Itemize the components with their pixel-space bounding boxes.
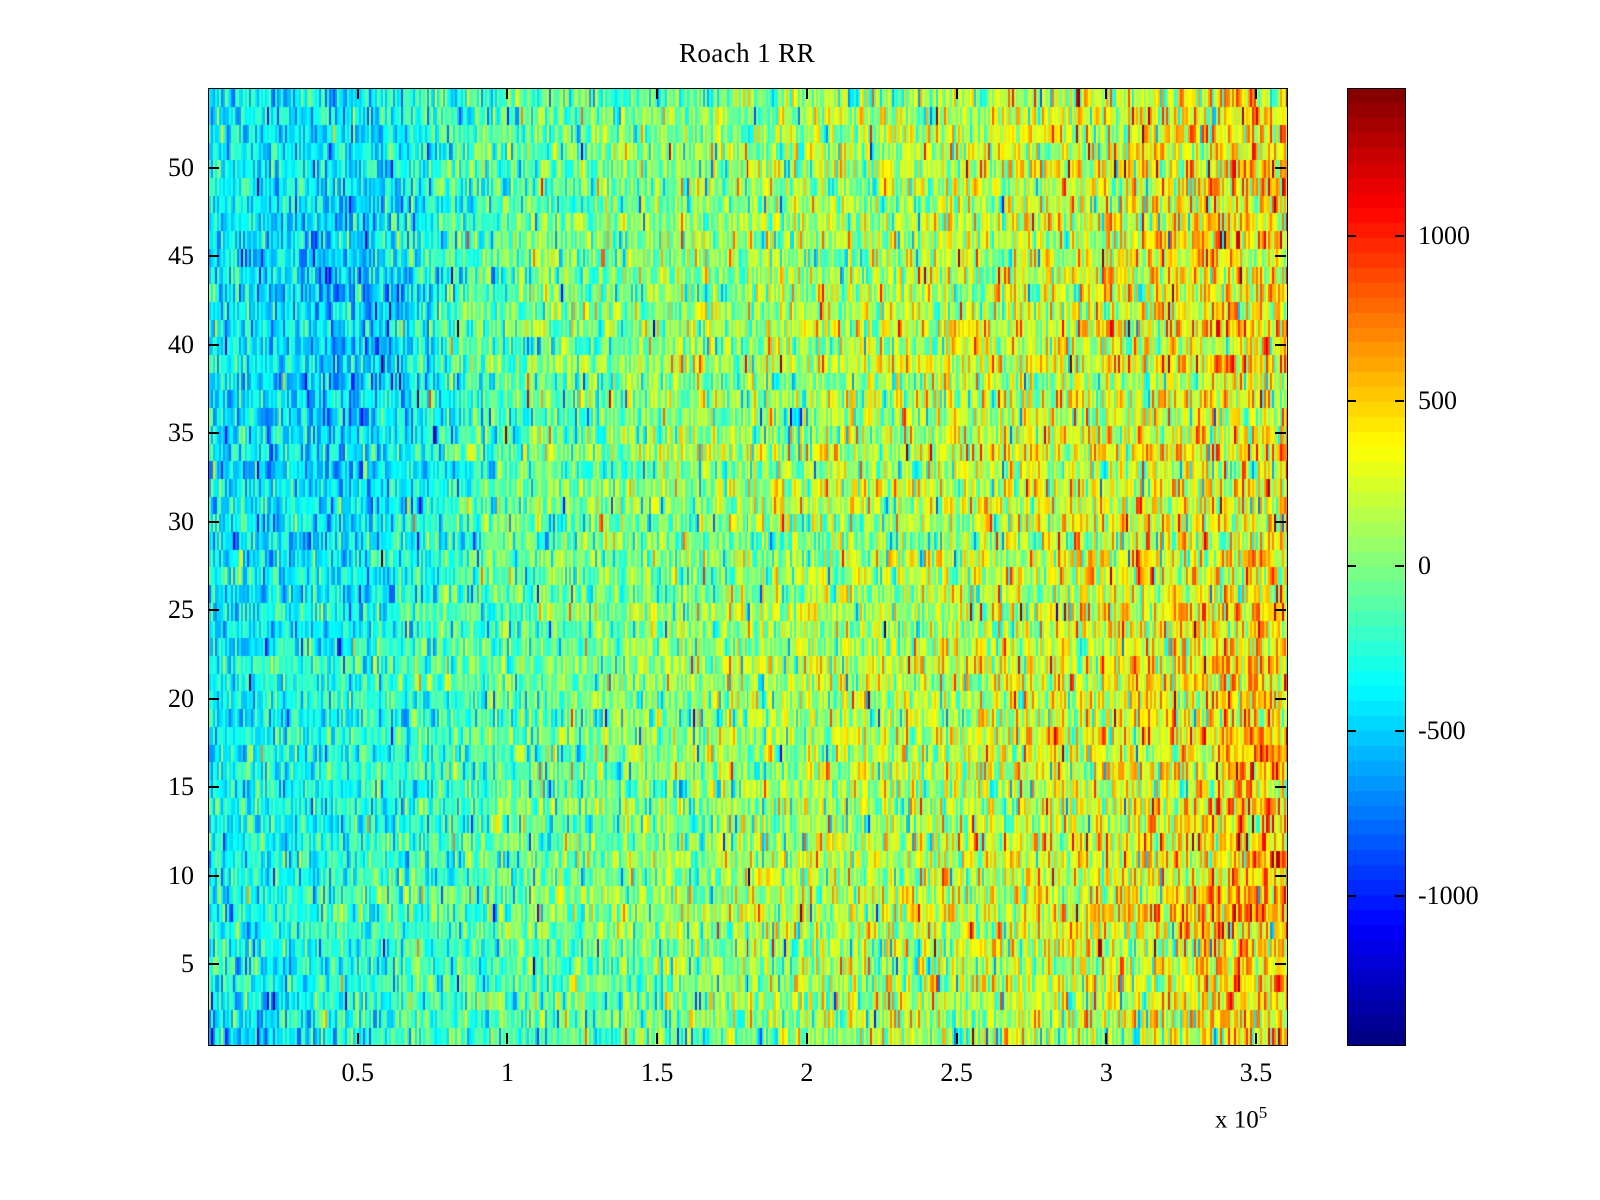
x-axis-exponent-base: x 10 bbox=[1215, 1106, 1259, 1133]
y-tick-mark bbox=[1275, 344, 1286, 346]
colorbar-tick-mark bbox=[1395, 895, 1404, 897]
x-tick-mark bbox=[1255, 88, 1257, 99]
colorbar-tick-mark bbox=[1395, 730, 1404, 732]
y-tick-label: 35 bbox=[116, 418, 194, 448]
y-tick-mark bbox=[1275, 786, 1286, 788]
y-tick-label: 25 bbox=[116, 595, 194, 625]
y-tick-mark bbox=[208, 963, 219, 965]
y-tick-mark bbox=[1275, 875, 1286, 877]
colorbar-tick-label: -500 bbox=[1418, 716, 1466, 746]
y-tick-mark bbox=[1275, 432, 1286, 434]
x-tick-label: 3.5 bbox=[1240, 1058, 1273, 1088]
colorbar-tick-label: -1000 bbox=[1418, 881, 1479, 911]
y-tick-mark bbox=[208, 698, 219, 700]
x-tick-label: 2.5 bbox=[940, 1058, 973, 1088]
x-tick-mark bbox=[956, 1033, 958, 1044]
y-tick-mark bbox=[208, 255, 219, 257]
y-tick-mark bbox=[1275, 167, 1286, 169]
y-tick-label: 5 bbox=[116, 949, 194, 979]
x-tick-mark bbox=[656, 1033, 658, 1044]
x-tick-mark bbox=[506, 88, 508, 99]
x-tick-label: 1.5 bbox=[641, 1058, 674, 1088]
colorbar-tick-mark bbox=[1347, 730, 1356, 732]
colorbar-tick-mark bbox=[1395, 565, 1404, 567]
y-tick-mark bbox=[1275, 609, 1286, 611]
x-tick-mark bbox=[656, 88, 658, 99]
x-tick-mark bbox=[1255, 1033, 1257, 1044]
colorbar-gradient bbox=[1348, 89, 1405, 1045]
y-tick-mark bbox=[208, 875, 219, 877]
colorbar-tick-mark bbox=[1395, 235, 1404, 237]
x-tick-mark bbox=[806, 88, 808, 99]
y-tick-mark bbox=[1275, 255, 1286, 257]
x-tick-mark bbox=[506, 1033, 508, 1044]
x-axis-exponent-label: x 105 bbox=[1215, 1103, 1267, 1134]
y-tick-label: 15 bbox=[116, 772, 194, 802]
x-tick-label: 2 bbox=[800, 1058, 813, 1088]
y-tick-mark bbox=[208, 344, 219, 346]
y-tick-mark bbox=[1275, 698, 1286, 700]
colorbar-tick-mark bbox=[1347, 565, 1356, 567]
heatmap-axes bbox=[208, 88, 1288, 1046]
y-tick-label: 10 bbox=[116, 861, 194, 891]
colorbar-tick-label: 1000 bbox=[1418, 221, 1470, 251]
x-tick-mark bbox=[956, 88, 958, 99]
colorbar-tick-mark bbox=[1347, 400, 1356, 402]
heatmap-image bbox=[209, 89, 1287, 1045]
x-tick-label: 0.5 bbox=[341, 1058, 374, 1088]
y-tick-mark bbox=[1275, 963, 1286, 965]
x-tick-mark bbox=[357, 88, 359, 99]
y-tick-label: 45 bbox=[116, 241, 194, 271]
y-tick-mark bbox=[1275, 521, 1286, 523]
x-tick-mark bbox=[1105, 1033, 1107, 1044]
x-tick-label: 1 bbox=[501, 1058, 514, 1088]
colorbar-tick-mark bbox=[1347, 895, 1356, 897]
y-tick-mark bbox=[208, 786, 219, 788]
x-tick-mark bbox=[357, 1033, 359, 1044]
colorbar-tick-mark bbox=[1347, 235, 1356, 237]
y-tick-label: 50 bbox=[116, 153, 194, 183]
x-tick-label: 3 bbox=[1100, 1058, 1113, 1088]
colorbar bbox=[1347, 88, 1406, 1046]
x-tick-mark bbox=[806, 1033, 808, 1044]
colorbar-tick-mark bbox=[1395, 400, 1404, 402]
y-tick-label: 20 bbox=[116, 684, 194, 714]
colorbar-tick-label: 0 bbox=[1418, 551, 1431, 581]
figure-canvas: Roach 1 RR 5101520253035404550 0.511.522… bbox=[0, 0, 1600, 1200]
colorbar-tick-label: 500 bbox=[1418, 386, 1457, 416]
y-tick-label: 40 bbox=[116, 330, 194, 360]
y-tick-mark bbox=[208, 167, 219, 169]
x-axis-exponent-power: 5 bbox=[1259, 1103, 1268, 1122]
y-tick-mark bbox=[208, 432, 219, 434]
y-tick-label: 30 bbox=[116, 507, 194, 537]
y-tick-mark bbox=[208, 521, 219, 523]
page-title: Roach 1 RR bbox=[208, 38, 1286, 69]
y-tick-mark bbox=[208, 609, 219, 611]
x-tick-mark bbox=[1105, 88, 1107, 99]
